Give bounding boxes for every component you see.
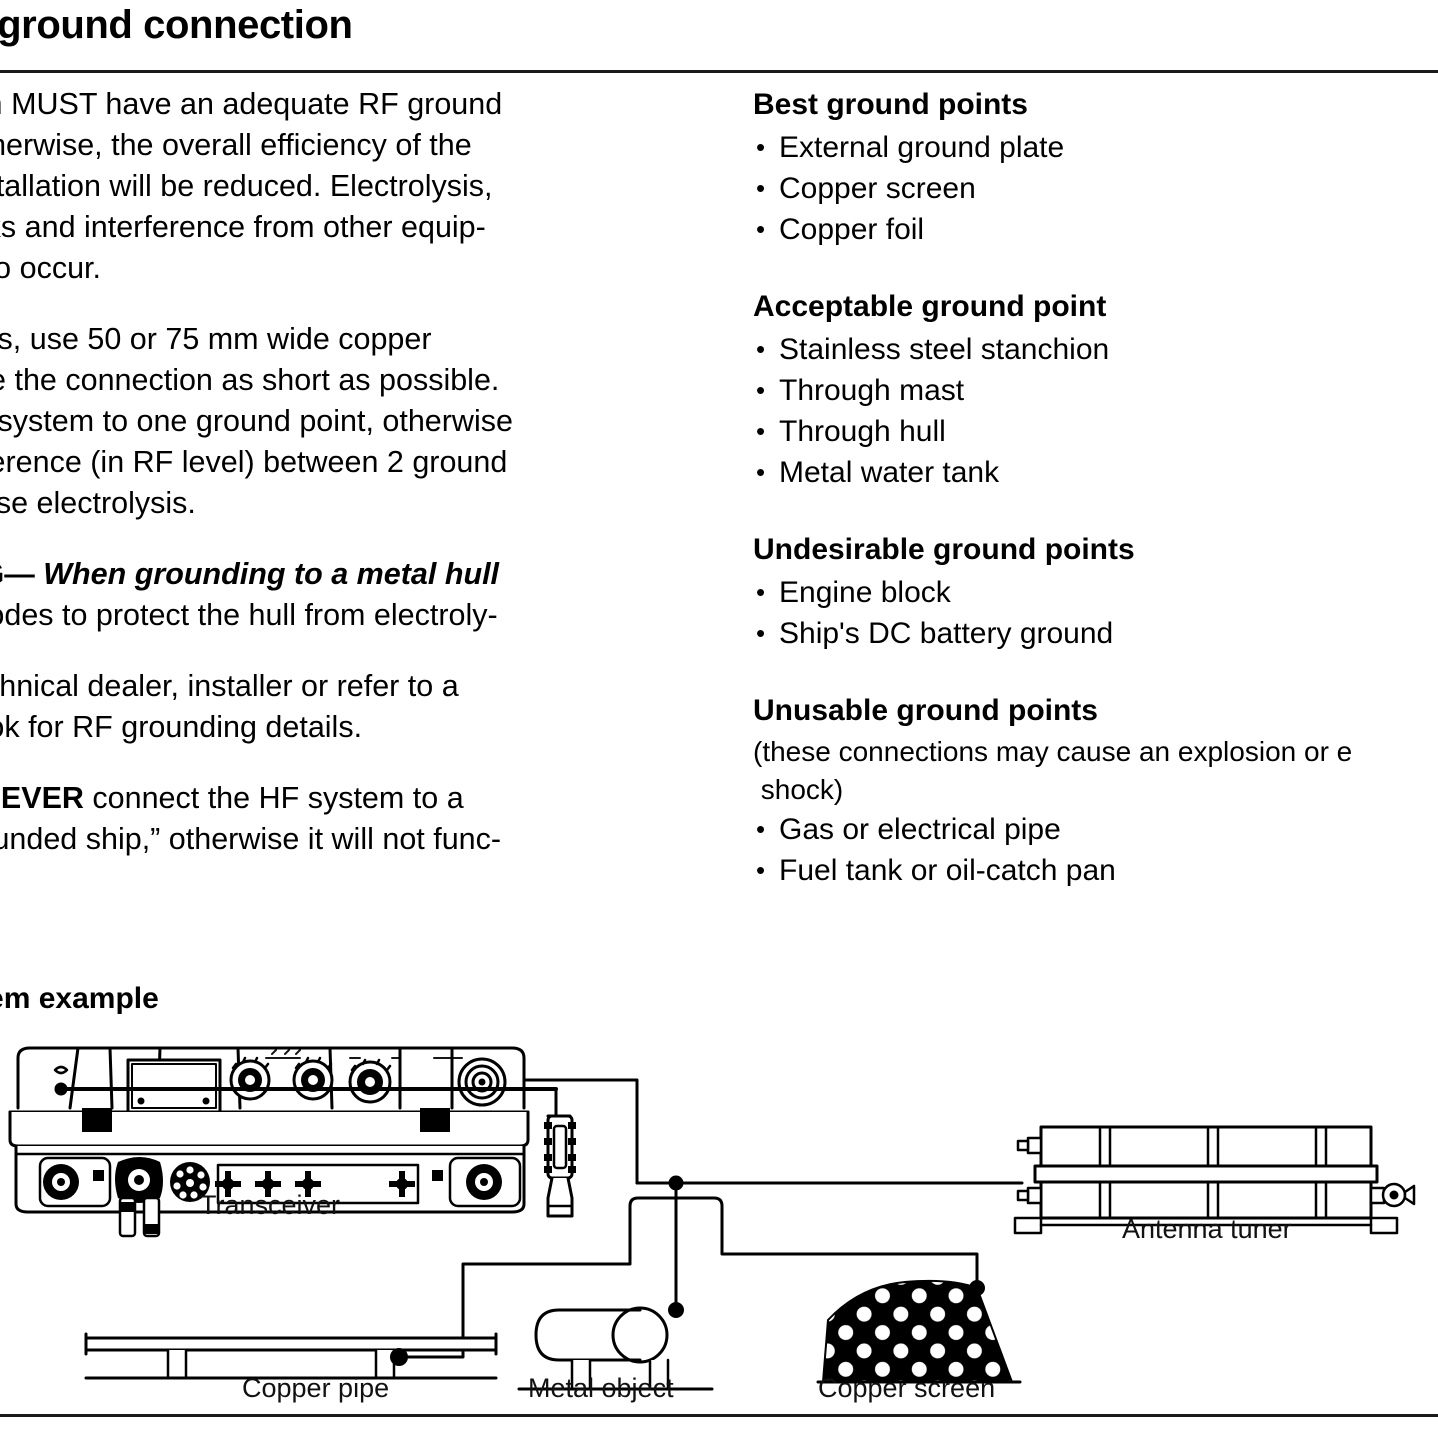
diagram-label-copper-screen: Copper screen	[818, 1373, 995, 1403]
copper-screen-illustration	[810, 1270, 1030, 1390]
list-item: Copper foil	[753, 209, 1438, 250]
footer-divider	[0, 1414, 1438, 1417]
section-heading: Unusable ground points	[753, 690, 1438, 731]
list-item: Ship's DC battery ground	[753, 613, 1438, 654]
list-item: Through mast	[753, 370, 1438, 411]
section-best-ground-points: Best ground points External ground plate…	[753, 84, 1438, 250]
copper-pipe-illustration	[86, 1334, 496, 1378]
paragraph-4: our technical dealer, installer or refer…	[0, 666, 670, 748]
list-item: Stainless steel stanchion	[753, 329, 1438, 370]
list-item: External ground plate	[753, 127, 1438, 168]
diagram-title: system example	[0, 982, 159, 1016]
list-item: Copper screen	[753, 168, 1438, 209]
section-note: (these connections may cause an explosio…	[753, 733, 1438, 809]
diagram-label-copper-pipe: Copper pipe	[242, 1373, 389, 1403]
list-item: Metal water tank	[753, 452, 1438, 493]
section-undesirable-ground-points: Undesirable ground points Engine block S…	[753, 529, 1438, 654]
warning-emphasis: When grounding to a metal hull	[43, 557, 499, 591]
section-heading: Undesirable ground points	[753, 529, 1438, 570]
paragraph-1: system MUST have an adequate RF ground o…	[0, 84, 670, 289]
paragraph-2: t results, use 50 or 75 mm wide copper d…	[0, 319, 670, 524]
list-item: Gas or electrical pipe	[753, 809, 1438, 850]
caution-label: ION: NEVER	[0, 781, 84, 815]
left-text-column: system MUST have an adequate RF ground o…	[0, 84, 670, 860]
diagram-label-antenna-tuner: Antenna tuner	[1122, 1214, 1292, 1244]
section-heading: Acceptable ground point	[753, 286, 1438, 327]
right-list-column: Best ground points External ground plate…	[753, 84, 1438, 891]
section-unusable-ground-points: Unusable ground points (these connection…	[753, 690, 1438, 891]
list-item: Fuel tank or oil-catch pan	[753, 850, 1438, 891]
diagram-label-metal-object: Metal object	[528, 1373, 674, 1403]
paragraph-caution: ION: NEVER connect the HF system to a ve…	[0, 778, 670, 860]
section-heading: Best ground points	[753, 84, 1438, 125]
diagram-label-transceiver: Transceiver	[200, 1190, 340, 1220]
list-item: Through hull	[753, 411, 1438, 452]
warning-label: RNING—	[0, 557, 43, 591]
paragraph-warning: RNING— When grounding to a metal hull in…	[0, 554, 670, 636]
header-divider	[0, 70, 1438, 73]
page-title: sel ground connection	[0, 2, 832, 48]
warning-body: inc anodes to protect the hull from elec…	[0, 598, 498, 632]
document-page: sel ground connection system MUST have a…	[0, 0, 1438, 1438]
section-acceptable-ground-point: Acceptable ground point Stainless steel …	[753, 286, 1438, 493]
list-item: Engine block	[753, 572, 1438, 613]
